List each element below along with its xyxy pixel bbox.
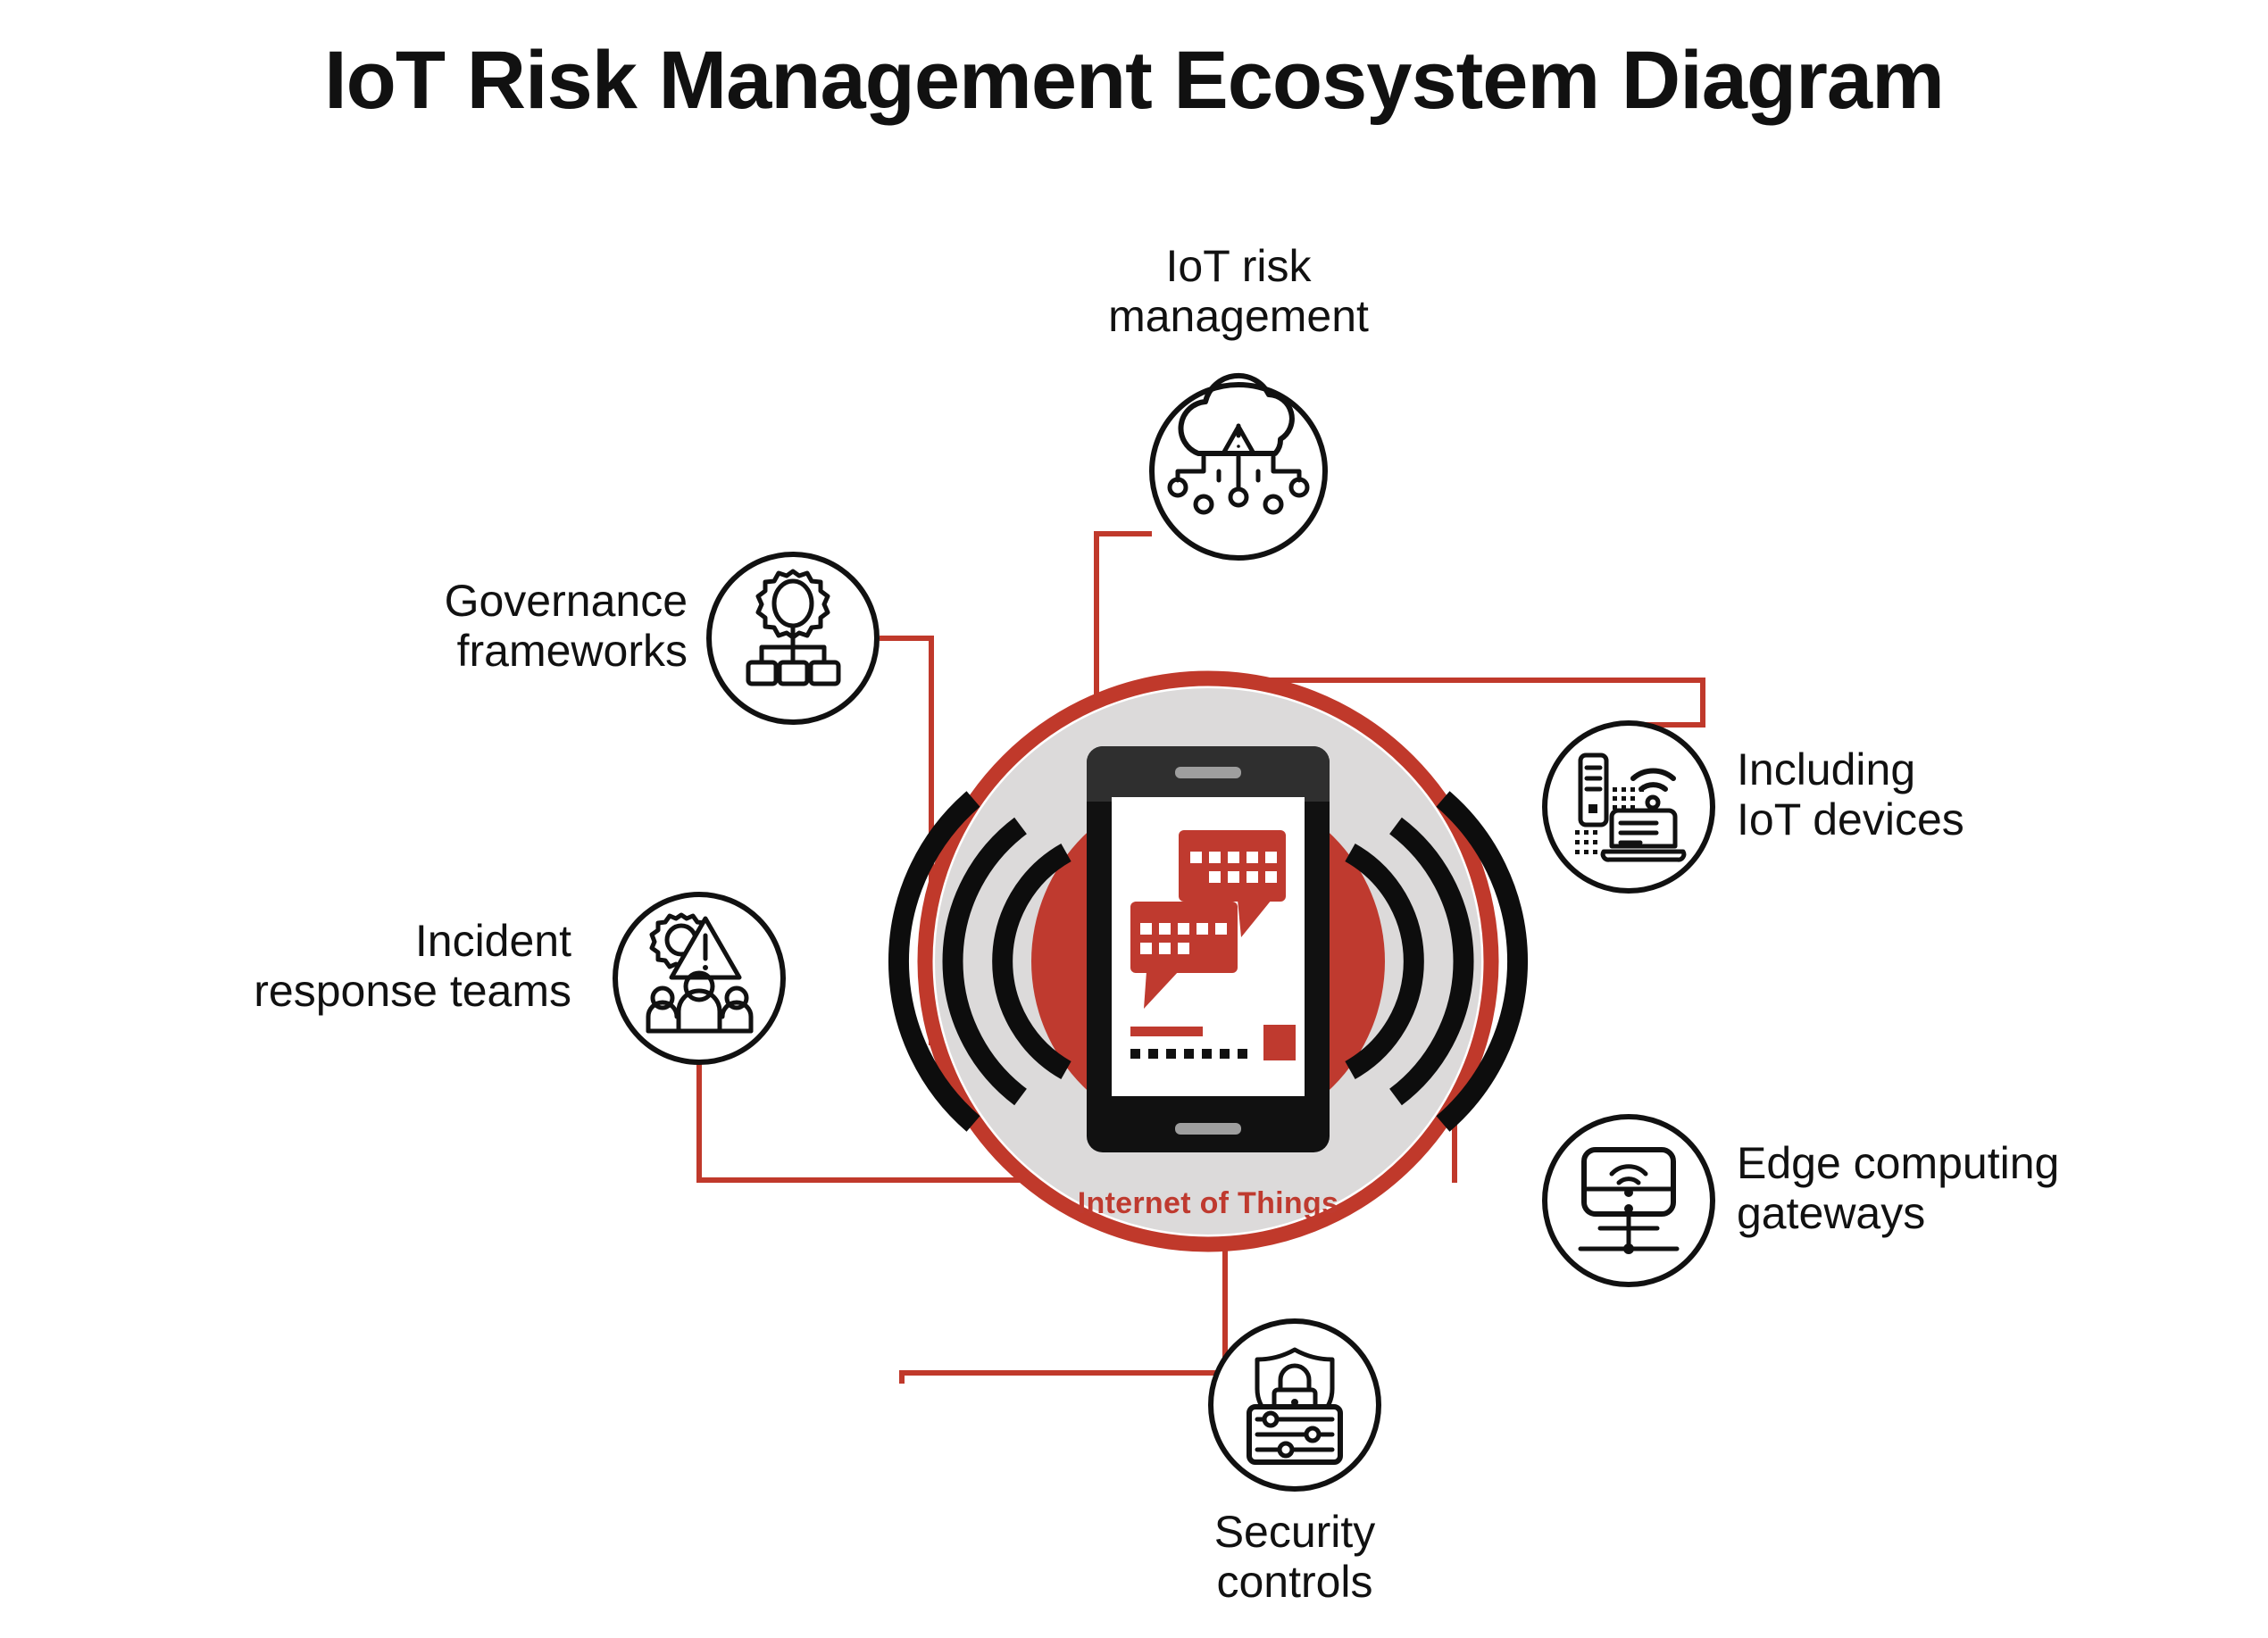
diagram-canvas: IoT Risk Management Ecosystem Diagram	[0, 0, 2268, 1638]
node-label-incident-response-teams-line2: response teams	[156, 966, 571, 1016]
device-home-bar	[1175, 1123, 1241, 1135]
node-label-including-iot-devices-line1: Including	[1737, 744, 2201, 794]
node-label-edge-computing-gateways-line2: gateways	[1737, 1188, 2237, 1238]
node-incident-response-teams[interactable]	[615, 894, 783, 1062]
node-label-incident-response-teams: Incident response teams	[156, 916, 571, 1016]
screen-red-tile	[1263, 1025, 1296, 1060]
node-label-security-controls-line1: Security	[1071, 1507, 1518, 1557]
node-label-iot-risk-management-line1: IoT risk	[1015, 241, 1462, 291]
hub-caption: Internet of Things	[985, 1186, 1431, 1221]
node-label-security-controls-line2: controls	[1071, 1557, 1518, 1607]
smartphone-device	[1087, 746, 1330, 1152]
connector-security-controls	[902, 1232, 1225, 1384]
node-circle-including-iot-devices[interactable]	[1545, 723, 1713, 891]
node-label-including-iot-devices-line2: IoT devices	[1737, 794, 2201, 844]
node-edge-computing-gateways[interactable]	[1545, 1117, 1713, 1285]
node-label-edge-computing-gateways-line1: Edge computing	[1737, 1138, 2237, 1188]
node-including-iot-devices[interactable]	[1545, 723, 1713, 891]
node-label-edge-computing-gateways: Edge computing gateways	[1737, 1138, 2237, 1238]
node-iot-risk-management[interactable]	[1152, 376, 1325, 558]
node-label-iot-risk-management-line2: management	[1015, 291, 1462, 341]
node-label-governance-frameworks: Governance frameworks	[313, 576, 688, 676]
node-label-governance-frameworks-line2: frameworks	[313, 626, 688, 676]
node-circle-edge-computing-gateways[interactable]	[1545, 1117, 1713, 1285]
hub-group	[898, 678, 1517, 1244]
node-label-including-iot-devices: Including IoT devices	[1737, 744, 2201, 844]
screen-progress-bar	[1130, 1027, 1203, 1036]
device-earpiece	[1175, 767, 1241, 778]
node-label-security-controls: Security controls	[1071, 1507, 1518, 1607]
node-label-governance-frameworks-line1: Governance	[313, 576, 688, 626]
node-label-incident-response-teams-line1: Incident	[156, 916, 571, 966]
node-label-iot-risk-management: IoT risk management	[1015, 241, 1462, 341]
node-governance-frameworks[interactable]	[709, 554, 877, 722]
node-security-controls[interactable]	[1211, 1321, 1379, 1489]
